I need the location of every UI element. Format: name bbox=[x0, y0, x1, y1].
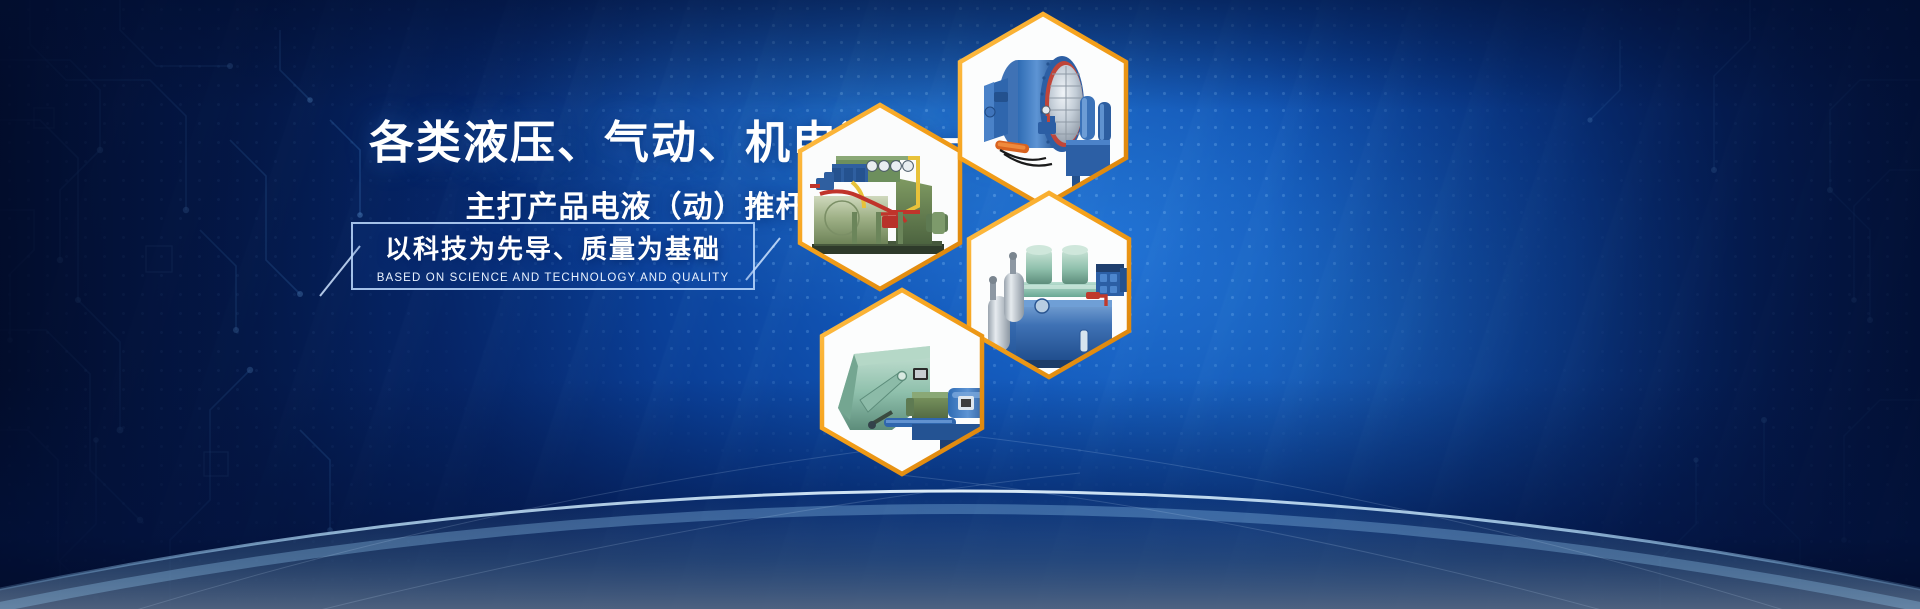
slogan-chinese: 以科技为先导、质量为基础 bbox=[385, 229, 721, 266]
slogan-english: BASED ON SCIENCE AND TECHNOLOGY AND QUAL… bbox=[377, 272, 730, 284]
hexagon-electro-hydraulic-pusher bbox=[822, 290, 992, 474]
slogan-box: 以科技为先导、质量为基础 BASED ON SCIENCE AND TECHNO… bbox=[351, 222, 755, 290]
hexagon-product-cluster bbox=[780, 0, 1400, 609]
hexagon-green-hydraulic-power-unit bbox=[800, 105, 960, 289]
hero-banner: 各类液压、气动、机电液为一体 主打产品电液（动）推杆、液压站 以科技为先导、质量… bbox=[0, 0, 1920, 609]
hexagon-blue-butterfly-valve bbox=[960, 14, 1126, 206]
hexagon-group bbox=[780, 0, 1400, 609]
hexagon-blue-hydraulic-station bbox=[969, 193, 1129, 377]
slogan-block: 以科技为先导、质量为基础 BASED ON SCIENCE AND TECHNO… bbox=[318, 222, 788, 302]
